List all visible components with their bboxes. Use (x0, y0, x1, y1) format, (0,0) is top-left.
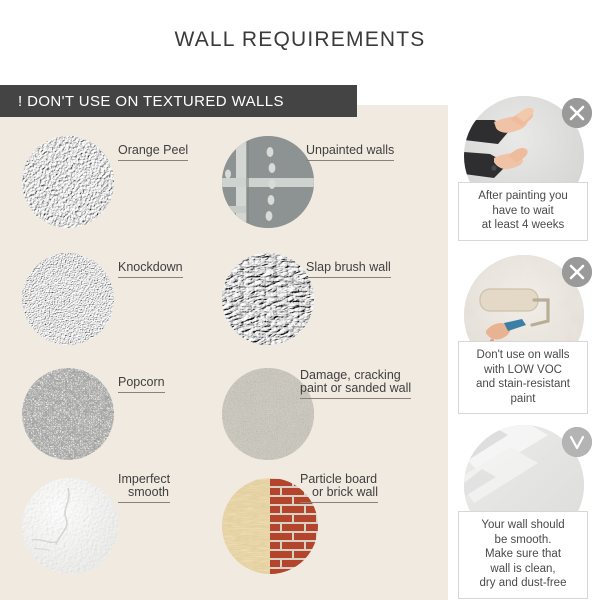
label-underline (118, 160, 188, 161)
knockdown-swatch-graphic (22, 253, 114, 345)
popcorn-texture-icon (22, 368, 114, 460)
texture-grid: Orange Peel (0, 118, 448, 600)
x-mark-icon (562, 257, 592, 287)
x-mark-glyph (562, 257, 592, 287)
knockdown-texture-icon (22, 253, 114, 345)
texture-label-orange-peel: Orange Peel (118, 144, 188, 161)
orange-peel-texture-icon (22, 136, 114, 228)
imperfect-smooth-texture-icon (22, 478, 118, 574)
x-mark-icon (562, 98, 592, 128)
texture-label-knockdown: Knockdown (118, 261, 183, 278)
label-underline (118, 502, 170, 503)
label-underline (118, 392, 165, 393)
warning-banner-label: ! DON'T USE ON TEXTURED WALLS (0, 93, 284, 110)
unpainted-swatch-graphic (222, 136, 314, 228)
texture-label-unpainted-walls: Unpainted walls (306, 144, 394, 161)
slap-brush-swatch-graphic (222, 253, 314, 345)
label-underline (300, 502, 378, 503)
check-mark-glyph (562, 427, 592, 457)
guidance-card-low-voc: Don't use on walls with LOW VOC and stai… (448, 255, 600, 420)
imperfect-smooth-swatch-graphic (22, 478, 118, 574)
guidance-card-smooth-clean: Your wall should be smooth. Make sure th… (448, 425, 600, 600)
card-caption-low-voc: Don't use on walls with LOW VOC and stai… (458, 341, 588, 414)
texture-label-damage-cracking: Damage, cracking paint or sanded wall (300, 369, 411, 399)
guidance-cards: After painting you have to wait at least… (448, 0, 600, 600)
texture-label-slap-brush: Slap brush wall (306, 261, 391, 278)
card-caption-wait-4-weeks: After painting you have to wait at least… (458, 182, 588, 241)
check-mark-icon (562, 427, 592, 457)
wall-requirements-infographic: WALL REQUIREMENTS ! DON'T USE ON TEXTURE… (0, 0, 600, 600)
x-mark-glyph (562, 98, 592, 128)
warning-banner: ! DON'T USE ON TEXTURED WALLS (0, 85, 357, 117)
unpainted-wall-photo-icon (222, 136, 314, 228)
popcorn-swatch-graphic (22, 368, 114, 460)
texture-label-popcorn: Popcorn (118, 376, 165, 393)
texture-label-imperfect-smooth: Imperfect smooth (118, 473, 170, 503)
texture-label-particle-brick: Particle board or brick wall (300, 473, 378, 503)
label-underline (306, 160, 394, 161)
card-caption-smooth-clean: Your wall should be smooth. Make sure th… (458, 511, 588, 599)
guidance-card-wait-4-weeks: After painting you have to wait at least… (448, 96, 600, 246)
slap-brush-texture-icon (222, 253, 314, 345)
label-underline (306, 277, 391, 278)
orange-peel-swatch-graphic (22, 136, 114, 228)
label-underline (300, 398, 411, 399)
label-underline (118, 277, 183, 278)
